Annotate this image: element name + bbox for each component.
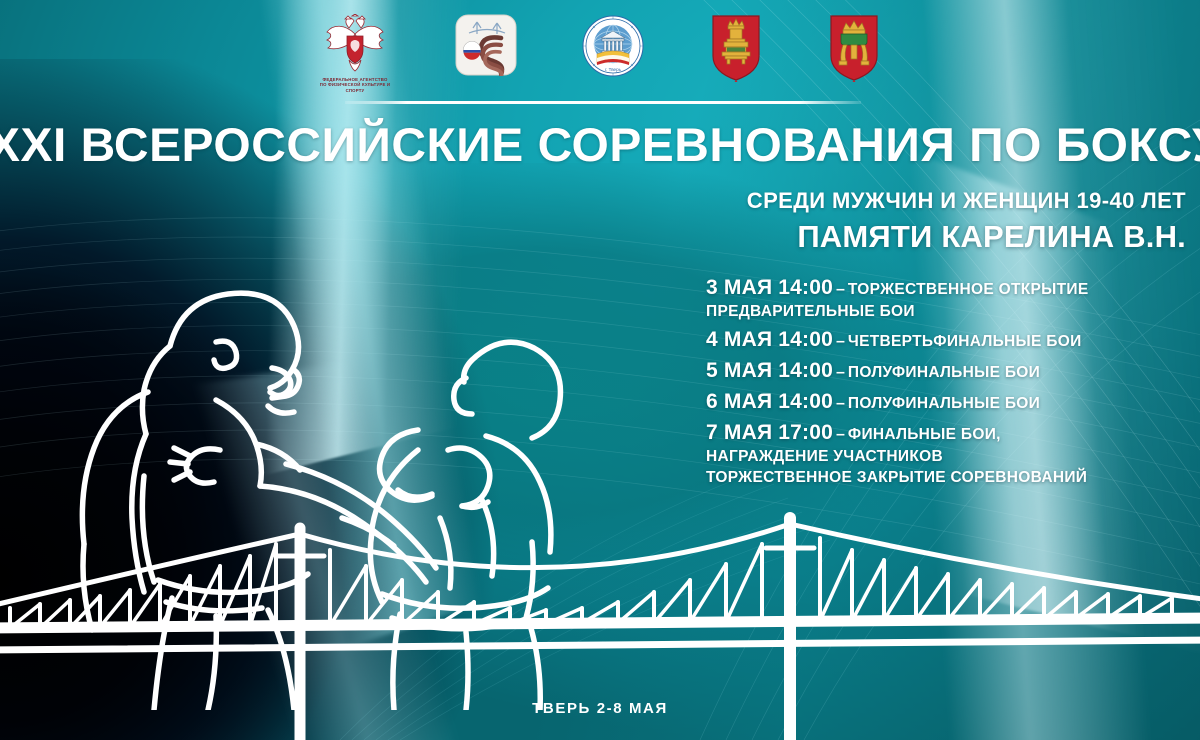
schedule-dash: – (833, 364, 848, 381)
double-headed-eagle-icon (321, 14, 389, 74)
schedule-description: ПОЛУФИНАЛЬНЫЕ БОИ (848, 364, 1040, 381)
ministry-of-sport-emblem: ФЕДЕРАЛЬНОЕ АГЕНТСТВО ПО ФИЗИЧЕСКОЙ КУЛЬ… (319, 14, 391, 93)
tver-oblast-coat-of-arms (709, 14, 763, 85)
schedule-row: 7 МАЯ 17:00–ФИНАЛЬНЫЕ БОИ, (706, 421, 1186, 445)
schedule-description: ТОРЖЕСТВЕННОЕ ОТКРЫТИЕ (848, 281, 1089, 298)
tver-sport-committee-emblem: г. Тверь (581, 14, 645, 81)
schedule-row: 6 МАЯ 14:00–ПОЛУФИНАЛЬНЫЕ БОИ (706, 390, 1186, 414)
schedule-continuation-2: ТОРЖЕСТВЕННОЕ ЗАКРЫТИЕ СОРЕВНОВАНИЙ (706, 469, 1186, 487)
schedule-dash: – (833, 281, 848, 298)
tver-city-shield-icon (827, 14, 881, 82)
schedule-dash: – (833, 426, 848, 443)
boxing-federation-icon (455, 14, 517, 76)
schedule-description: ФИНАЛЬНЫЕ БОИ, (848, 426, 1001, 443)
subtitle-age-range: СРЕДИ МУЖЧИН И ЖЕНЩИН 19-40 ЛЕТ (747, 188, 1186, 213)
schedule-date: 4 МАЯ 14:00 (706, 328, 833, 351)
schedule-date: 3 МАЯ 14:00 (706, 276, 833, 299)
tver-city-label: г. Тверь (605, 67, 621, 72)
russian-boxing-federation-logo (455, 14, 517, 79)
tver-city-coat-of-arms (827, 14, 881, 85)
schedule-date: 7 МАЯ 17:00 (706, 421, 833, 444)
page-title: XXI ВСЕРОССИЙСКИЕ СОРЕВНОВАНИЯ ПО БОКСУ (0, 121, 1200, 168)
background-dark-vignette-inner (0, 252, 552, 740)
schedule-dash: – (833, 395, 848, 412)
schedule-date: 5 МАЯ 14:00 (706, 359, 833, 382)
schedule-description: ЧЕТВЕРТЬФИНАЛЬНЫЕ БОИ (848, 333, 1082, 350)
schedule-continuation: ПРЕДВАРИТЕЛЬНЫЕ БОИ (706, 303, 1186, 321)
schedule-description: ПОЛУФИНАЛЬНЫЕ БОИ (848, 395, 1040, 412)
schedule-continuation: НАГРАЖДЕНИЕ УЧАСТНИКОВ (706, 448, 1186, 466)
event-schedule: 3 МАЯ 14:00–ТОРЖЕСТВЕННОЕ ОТКРЫТИЕ ПРЕДВ… (706, 276, 1186, 490)
schedule-dash: – (833, 333, 848, 350)
sponsor-logos-row: ФЕДЕРАЛЬНОЕ АГЕНТСТВО ПО ФИЗИЧЕСКОЙ КУЛЬ… (0, 14, 1200, 93)
schedule-date: 6 МАЯ 14:00 (706, 390, 833, 413)
footer-location-dates: ТВЕРЬ 2-8 МАЯ (0, 700, 1200, 717)
header-divider (345, 101, 861, 104)
schedule-row: 4 МАЯ 14:00–ЧЕТВЕРТЬФИНАЛЬНЫЕ БОИ (706, 328, 1186, 352)
schedule-row: 3 МАЯ 14:00–ТОРЖЕСТВЕННОЕ ОТКРЫТИЕ (706, 276, 1186, 300)
subtitle-memorial: ПАМЯТИ КАРЕЛИНА В.Н. (747, 218, 1186, 255)
subtitle-block: СРЕДИ МУЖЧИН И ЖЕНЩИН 19-40 ЛЕТ ПАМЯТИ К… (747, 188, 1186, 255)
boxing-competition-poster: ФЕДЕРАЛЬНОЕ АГЕНТСТВО ПО ФИЗИЧЕСКОЙ КУЛЬ… (0, 0, 1200, 740)
ministry-of-sport-caption: ФЕДЕРАЛЬНОЕ АГЕНТСТВО ПО ФИЗИЧЕСКОЙ КУЛЬ… (319, 77, 391, 93)
tver-sport-circle-icon: г. Тверь (581, 14, 645, 78)
tver-oblast-shield-icon (709, 14, 763, 82)
schedule-row: 5 МАЯ 14:00–ПОЛУФИНАЛЬНЫЕ БОИ (706, 359, 1186, 383)
